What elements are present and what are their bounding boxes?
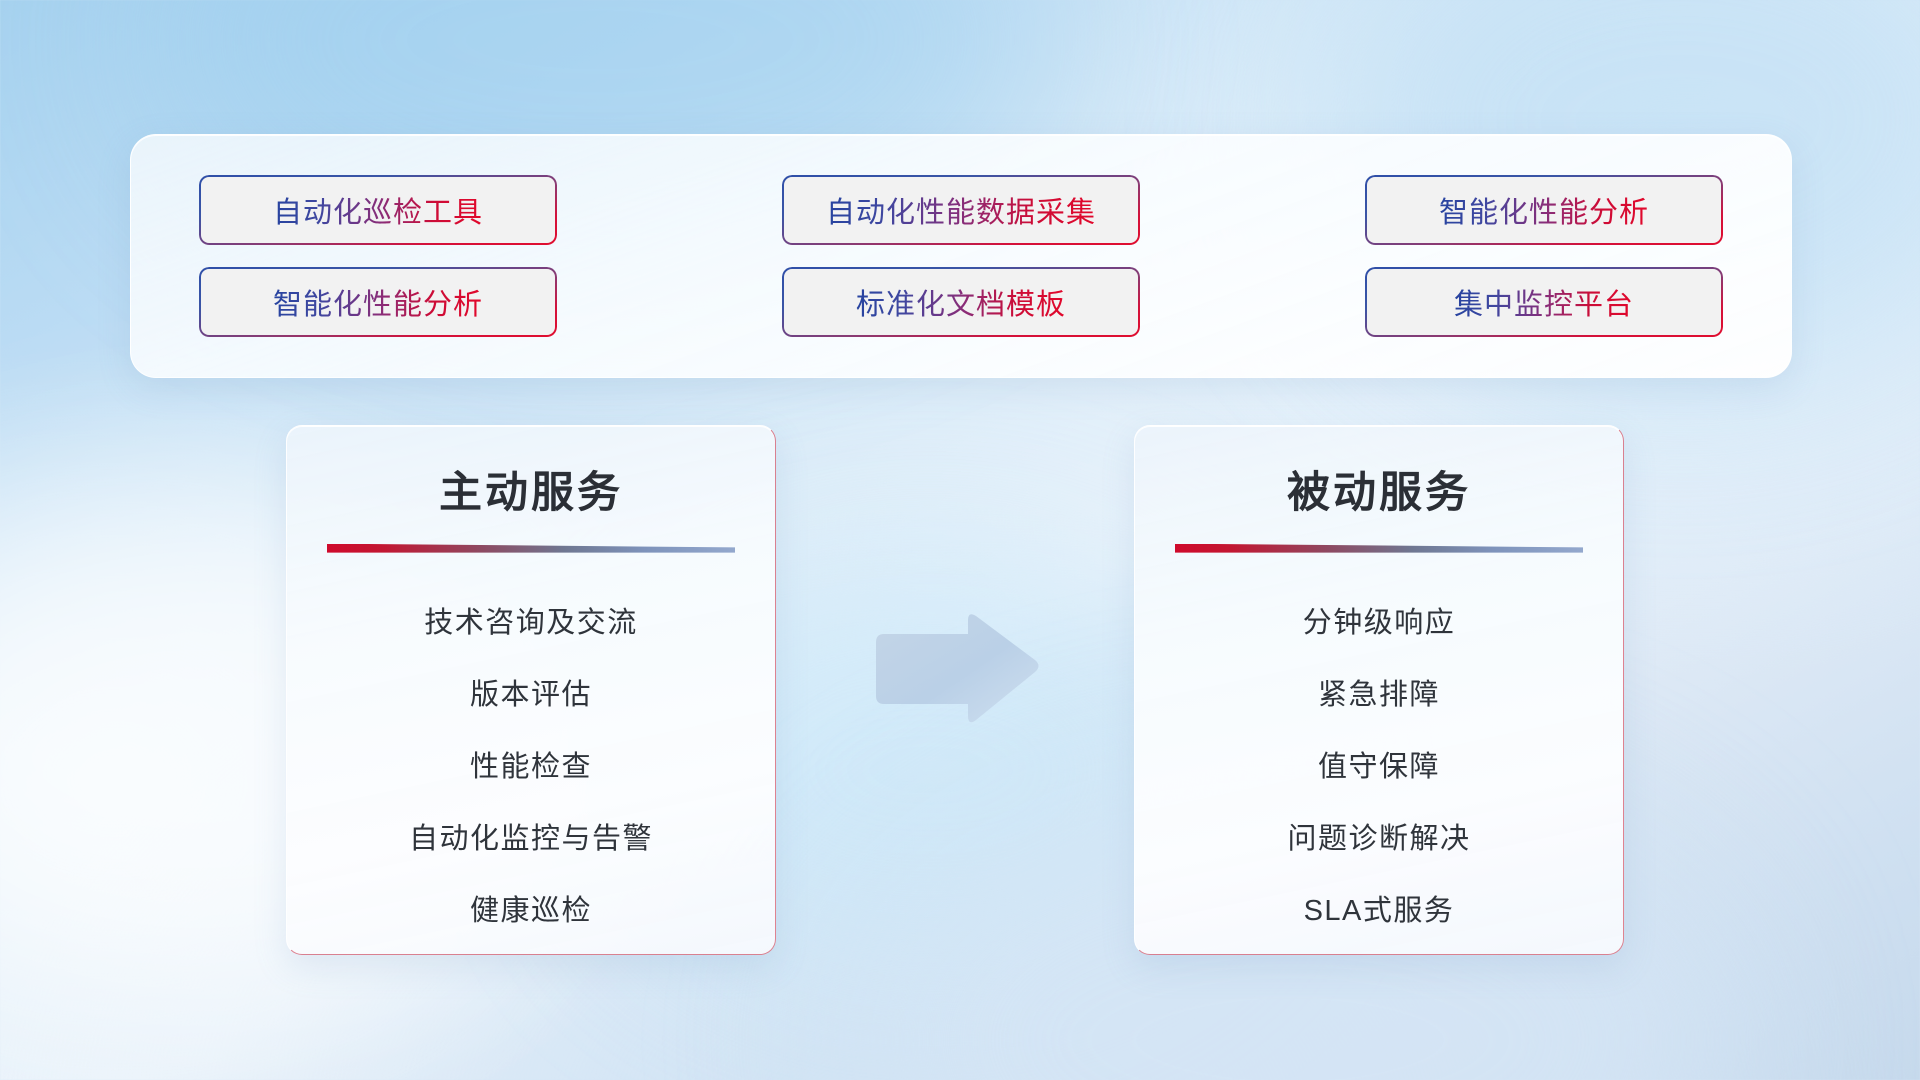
service-card-proactive[interactable]: 主动服务 技术咨询及交流 版本评估 性能检查 自动化监控与告警 健康巡检 <box>286 425 776 955</box>
title-divider-gradient <box>327 544 735 553</box>
list-item: 值守保障 <box>1169 731 1589 803</box>
list-item: 版本评估 <box>321 659 741 731</box>
list-item: SLA式服务 <box>1169 875 1589 947</box>
capability-row-1: 自动化巡检工具 自动化性能数据采集 智能化性能分析 <box>199 175 1723 245</box>
capability-pill-intelligent-performance-analysis-2[interactable]: 智能化性能分析 <box>199 267 557 337</box>
capability-pill-label: 自动化性能数据采集 <box>826 189 1096 231</box>
list-item: 紧急排障 <box>1169 659 1589 731</box>
capability-pill-standardized-document-template[interactable]: 标准化文档模板 <box>782 267 1140 337</box>
list-item: 健康巡检 <box>321 875 741 947</box>
capability-pill-label: 标准化文档模板 <box>856 281 1066 323</box>
list-item: 分钟级响应 <box>1169 587 1589 659</box>
capability-row-2: 智能化性能分析 标准化文档模板 集中监控平台 <box>199 267 1723 337</box>
diagram-stage: 自动化巡检工具 自动化性能数据采集 智能化性能分析 智能化性能分析 标准化文档模… <box>0 0 1920 1080</box>
list-item: 技术咨询及交流 <box>321 587 741 659</box>
list-item: 性能检查 <box>321 731 741 803</box>
capability-pill-label: 智能化性能分析 <box>273 281 483 323</box>
capability-pill-label: 智能化性能分析 <box>1439 189 1649 231</box>
capability-pill-label: 自动化巡检工具 <box>273 189 483 231</box>
capability-pill-centralized-monitoring-platform[interactable]: 集中监控平台 <box>1365 267 1723 337</box>
arrow-right-icon <box>872 610 1042 728</box>
service-card-title: 被动服务 <box>1169 468 1589 520</box>
flow-arrow-right <box>872 610 1042 728</box>
capability-pill-intelligent-performance-analysis[interactable]: 智能化性能分析 <box>1365 175 1723 245</box>
service-card-reactive[interactable]: 被动服务 分钟级响应 紧急排障 值守保障 问题诊断解决 SLA式服务 <box>1134 425 1624 955</box>
capability-pill-automated-performance-data-collection[interactable]: 自动化性能数据采集 <box>782 175 1140 245</box>
service-card-title: 主动服务 <box>321 468 741 520</box>
title-divider-gradient <box>1175 544 1583 553</box>
service-card-list: 分钟级响应 紧急排障 值守保障 问题诊断解决 SLA式服务 <box>1169 587 1589 947</box>
list-item: 自动化监控与告警 <box>321 803 741 875</box>
service-card-list: 技术咨询及交流 版本评估 性能检查 自动化监控与告警 健康巡检 <box>321 587 741 947</box>
capability-pill-label: 集中监控平台 <box>1454 281 1634 323</box>
list-item: 问题诊断解决 <box>1169 803 1589 875</box>
capability-panel: 自动化巡检工具 自动化性能数据采集 智能化性能分析 智能化性能分析 标准化文档模… <box>130 134 1792 378</box>
capability-pill-automated-inspection-tool[interactable]: 自动化巡检工具 <box>199 175 557 245</box>
